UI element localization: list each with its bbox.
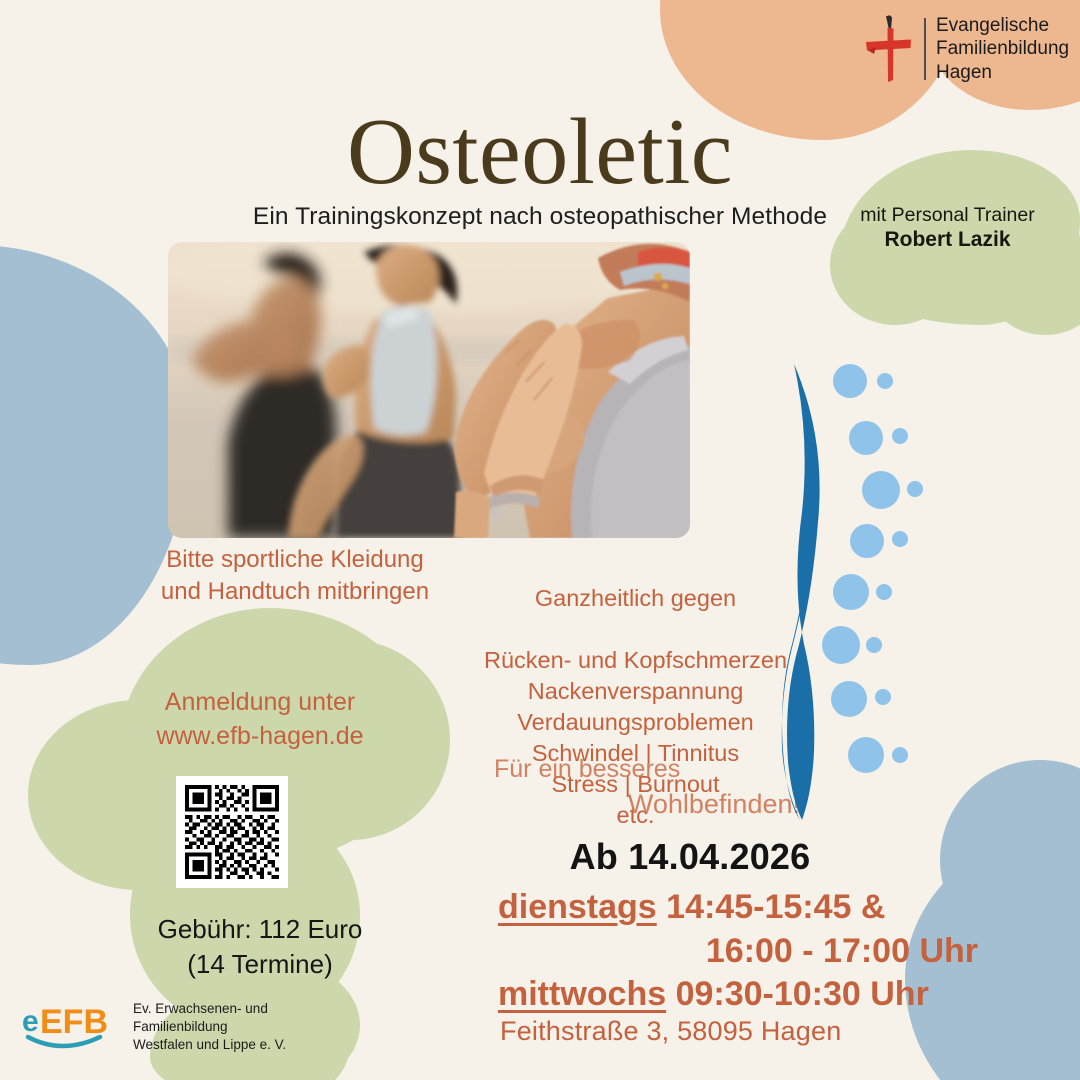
schedule-time: 16:00 - 17:00 Uhr [706, 932, 978, 970]
eefb-mark-icon: e EFB [22, 1001, 122, 1053]
schedule-row: mittwochs 09:30-10:30 Uhr [470, 973, 1000, 1017]
wellbeing-line-1: Für ein besseres [480, 752, 800, 786]
eefb-logo: e EFB Ev. Erwachsenen- und Familienbildu… [22, 1000, 286, 1054]
registration-text[interactable]: Anmeldung unter www.efb-hagen.de [110, 686, 410, 754]
logo-divider [924, 18, 926, 80]
schedule-rows: dienstags 14:45-15:45 & 16:00 - 17:00 Uh… [470, 886, 1000, 1017]
trainer-badge: mit Personal Trainer Robert Lazik [845, 203, 1050, 254]
schedule-day: dienstags [498, 888, 657, 926]
trainer-name: Robert Lazik [845, 227, 1050, 253]
spine-icon [778, 352, 928, 822]
schedule-row: 16:00 - 17:00 Uhr [470, 930, 1000, 974]
spine-illustration [778, 352, 928, 822]
fee-text: Gebühr: 112 Euro (14 Termine) [110, 912, 410, 981]
schedule-day: mittwochs [498, 975, 666, 1013]
qr-code[interactable] [176, 776, 288, 888]
qr-code-image [185, 785, 279, 879]
schedule-time: 09:30-10:30 Uhr [666, 975, 929, 1013]
schedule-start-date: Ab 14.04.2026 [480, 836, 900, 878]
trainer-label: mit Personal Trainer [845, 203, 1050, 227]
evangelische-familienbildung-logo: Evangelische Familienbildung Hagen [862, 14, 1069, 84]
schedule-time: 14:45-15:45 & [657, 888, 886, 926]
cross-icon [862, 14, 914, 84]
wellbeing-line-2: Wohlbefinden! [480, 786, 800, 823]
wellbeing-text: Für ein besseres Wohlbefinden! [480, 752, 800, 823]
venue-address: Feithstraße 3, 58095 Hagen [470, 1016, 950, 1047]
page-title: Osteoletic [0, 98, 1080, 206]
eefb-logo-text: Ev. Erwachsenen- und Familienbildung Wes… [133, 1000, 286, 1054]
poster-canvas: Evangelische Familienbildung Hagen Osteo… [0, 0, 1080, 1080]
hero-photo [168, 242, 690, 538]
svg-text:e: e [22, 1005, 39, 1038]
svg-text:EFB: EFB [40, 1003, 108, 1041]
logo-text: Evangelische Familienbildung Hagen [936, 14, 1069, 84]
clothing-note: Bitte sportliche Kleidung und Handtuch m… [150, 544, 440, 608]
hero-photo-image [168, 242, 690, 538]
schedule-row: dienstags 14:45-15:45 & [470, 886, 1000, 930]
symptoms-intro: Ganzheitlich gegen [535, 585, 736, 611]
